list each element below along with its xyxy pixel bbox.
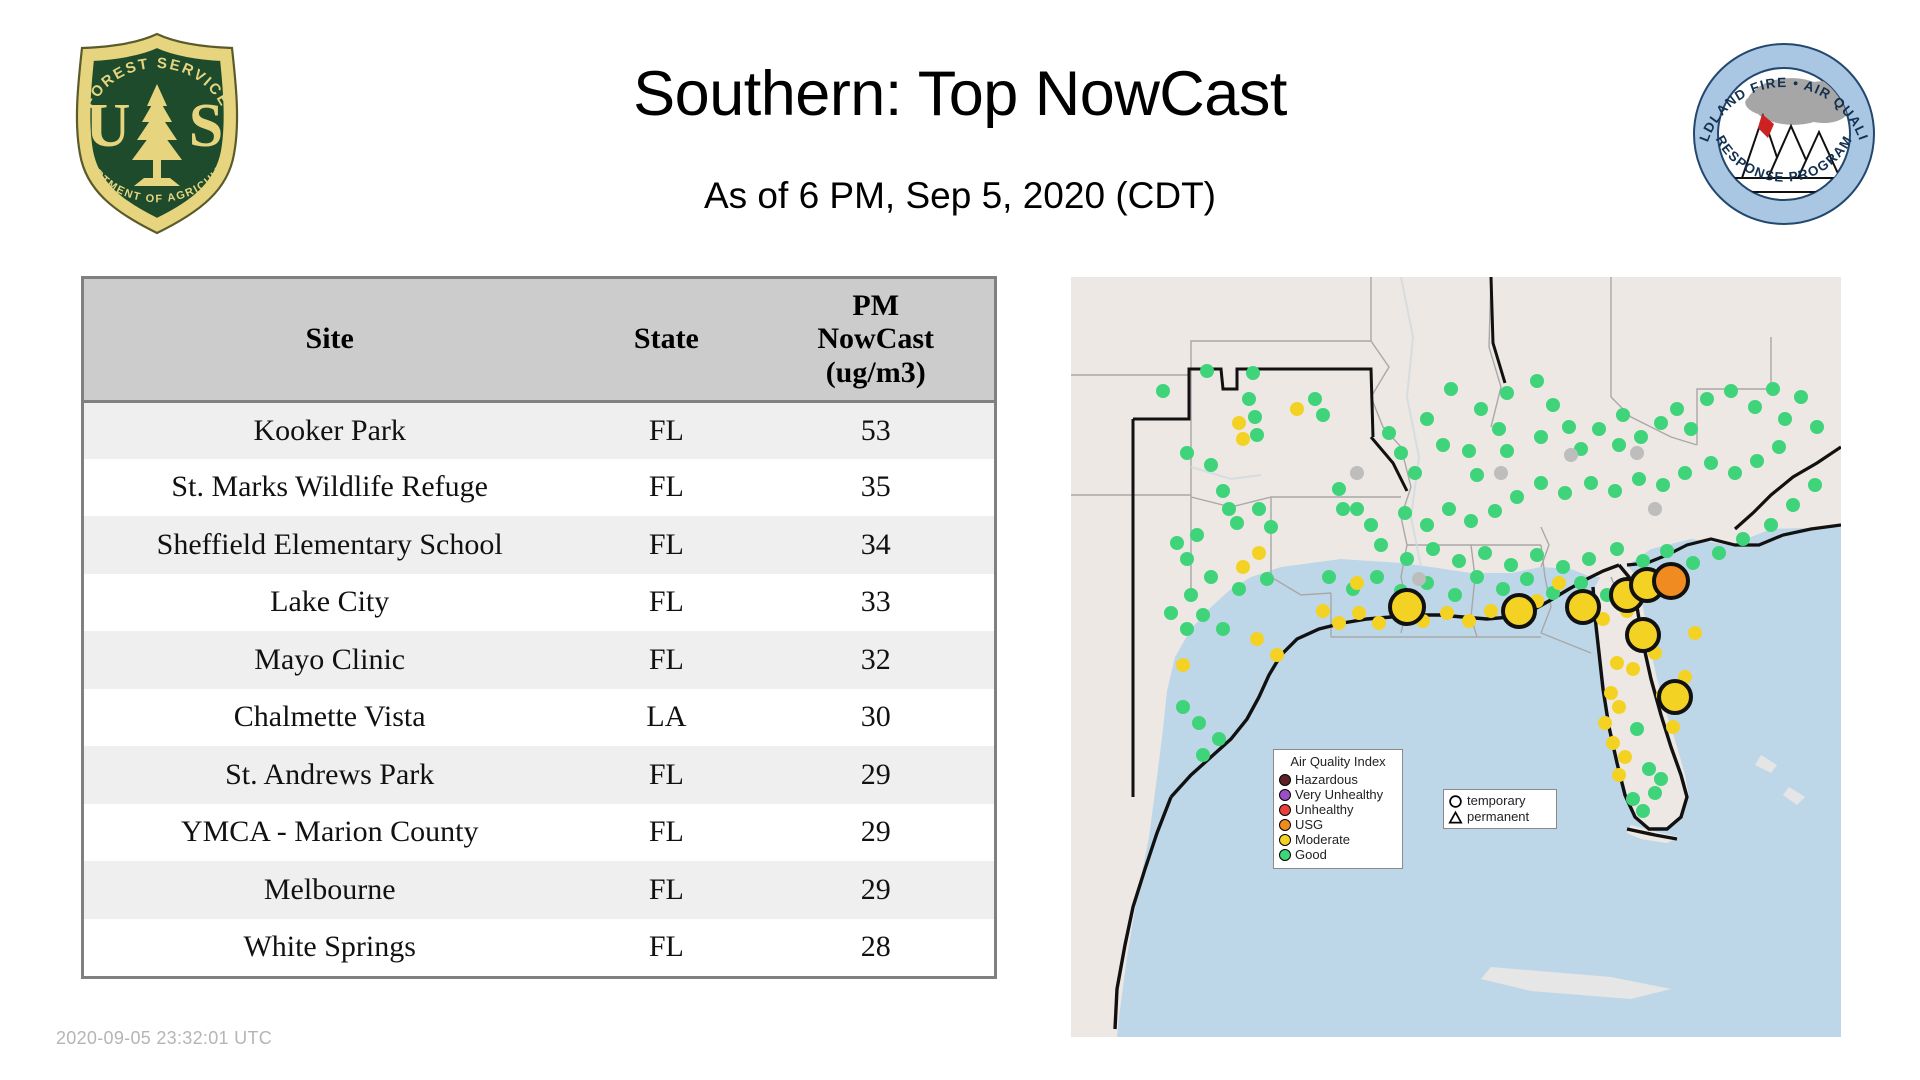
cell-pm: 33: [757, 574, 994, 632]
aqi-label-hazardous: Hazardous: [1295, 772, 1358, 787]
cell-pm: 29: [757, 804, 994, 862]
aqi-swatch-unhealthy: [1279, 804, 1291, 816]
cell-pm: 32: [757, 631, 994, 689]
table-row: Chalmette Vista LA 30: [84, 689, 994, 747]
aqi-legend-item-very-unhealthy: Very Unhealthy: [1279, 787, 1397, 802]
column-header-pm-nowcast: PM NowCast (ug/m3): [757, 279, 994, 401]
aqi-label-unhealthy: Unhealthy: [1295, 802, 1354, 817]
table-row: Sheffield Elementary School FL 34: [84, 516, 994, 574]
aqi-swatch-usg: [1279, 819, 1291, 831]
table-row: St. Andrews Park FL 29: [84, 746, 994, 804]
aqi-swatch-good: [1279, 849, 1291, 861]
aqi-legend-item-unhealthy: Unhealthy: [1279, 802, 1397, 817]
cell-state: FL: [575, 459, 757, 517]
slide-root: U S FOREST SERVICE DEPARTMENT OF AGRICUL…: [0, 0, 1920, 1080]
site-type-legend: temporary permanent: [1443, 789, 1557, 829]
cell-site: Mayo Clinic: [84, 631, 575, 689]
table-row: White Springs FL 28: [84, 919, 994, 977]
table-row: Lake City FL 33: [84, 574, 994, 632]
cell-site: Melbourne: [84, 861, 575, 919]
cell-state: FL: [575, 804, 757, 862]
aqi-swatch-very-unhealthy: [1279, 789, 1291, 801]
triangle-icon: [1448, 810, 1463, 825]
cell-pm: 28: [757, 919, 994, 977]
page-title: Southern: Top NowCast: [330, 58, 1590, 130]
cell-state: FL: [575, 574, 757, 632]
cell-site: Chalmette Vista: [84, 689, 575, 747]
cell-site: St. Andrews Park: [84, 746, 575, 804]
aqi-label-moderate: Moderate: [1295, 832, 1350, 847]
table-body: Kooker Park FL 53 St. Marks Wildlife Ref…: [84, 401, 994, 976]
aqi-legend: Air Quality Index Hazardous Very Unhealt…: [1273, 749, 1403, 869]
aqi-swatch-moderate: [1279, 834, 1291, 846]
cell-pm: 30: [757, 689, 994, 747]
pm-header-line-3: (ug/m3): [826, 356, 926, 389]
cell-pm: 53: [757, 401, 994, 459]
aqi-legend-item-moderate: Moderate: [1279, 832, 1397, 847]
aqi-swatch-hazardous: [1279, 774, 1291, 786]
cell-site: St. Marks Wildlife Refuge: [84, 459, 575, 517]
aqi-legend-item-hazardous: Hazardous: [1279, 772, 1397, 787]
cell-state: FL: [575, 746, 757, 804]
column-header-state: State: [575, 279, 757, 401]
wfaqrp-logo: WILDLAND FIRE • AIR QUALITY RESPONSE PRO…: [1688, 38, 1880, 230]
cell-site: Lake City: [84, 574, 575, 632]
table-row: St. Marks Wildlife Refuge FL 35: [84, 459, 994, 517]
table-row: Mayo Clinic FL 32: [84, 631, 994, 689]
aqi-label-very-unhealthy: Very Unhealthy: [1295, 787, 1383, 802]
aqi-label-good: Good: [1295, 847, 1327, 862]
cell-pm: 34: [757, 516, 994, 574]
aqi-legend-item-usg: USG: [1279, 817, 1397, 832]
air-quality-map[interactable]: Air Quality Index Hazardous Very Unhealt…: [1071, 277, 1841, 1037]
cell-site: Sheffield Elementary School: [84, 516, 575, 574]
site-legend-label-permanent: permanent: [1467, 809, 1529, 825]
cell-state: FL: [575, 631, 757, 689]
table-row: YMCA - Marion County FL 29: [84, 804, 994, 862]
site-legend-label-temporary: temporary: [1467, 793, 1526, 809]
aqi-legend-title: Air Quality Index: [1279, 754, 1397, 769]
pm-header-line-2: NowCast: [817, 322, 934, 355]
site-legend-item-temporary: temporary: [1448, 793, 1552, 809]
circle-icon: [1448, 794, 1463, 809]
column-header-site: Site: [84, 279, 575, 401]
forest-service-logo: U S FOREST SERVICE DEPARTMENT OF AGRICUL…: [52, 26, 262, 241]
pm-header-line-1: PM: [852, 289, 899, 322]
cell-state: FL: [575, 401, 757, 459]
table-row: Melbourne FL 29: [84, 861, 994, 919]
aqi-legend-item-good: Good: [1279, 847, 1397, 862]
cell-pm: 29: [757, 861, 994, 919]
cell-site: Kooker Park: [84, 401, 575, 459]
cell-state: FL: [575, 861, 757, 919]
cell-site: White Springs: [84, 919, 575, 977]
table-header-row: Site State PM NowCast (ug/m3): [84, 279, 994, 401]
cell-state: FL: [575, 919, 757, 977]
site-legend-item-permanent: permanent: [1448, 809, 1552, 825]
cell-state: LA: [575, 689, 757, 747]
top-nowcast-table: Site State PM NowCast (ug/m3) Kooker Par…: [81, 276, 997, 979]
cell-pm: 29: [757, 746, 994, 804]
aqi-label-usg: USG: [1295, 817, 1323, 832]
footer-timestamp: 2020-09-05 23:32:01 UTC: [56, 1028, 272, 1049]
cell-pm: 35: [757, 459, 994, 517]
table-row: Kooker Park FL 53: [84, 401, 994, 459]
cell-site: YMCA - Marion County: [84, 804, 575, 862]
page-subtitle: As of 6 PM, Sep 5, 2020 (CDT): [330, 175, 1590, 217]
cell-state: FL: [575, 516, 757, 574]
